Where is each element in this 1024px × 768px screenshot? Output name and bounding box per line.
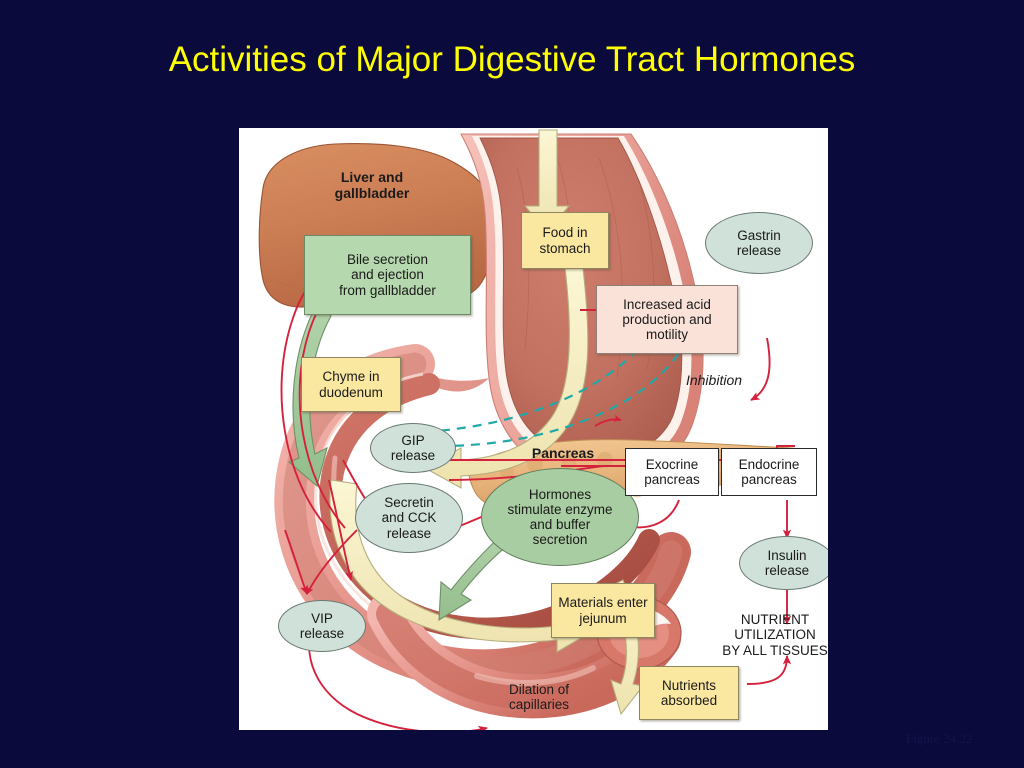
secretin-line2: and CCK (382, 510, 437, 525)
liver-label-line2: gallbladder (335, 185, 410, 201)
figure-panel: Liver and gallbladder Bile secretion and… (239, 128, 828, 730)
endocrine-line2: pancreas (741, 472, 797, 487)
process-box-chyme-in-duodenum[interactable]: Chyme in duodenum (301, 357, 401, 412)
exocrine-line2: pancreas (644, 472, 700, 487)
label-dilation-of-capillaries: Dilation of capillaries (487, 678, 591, 716)
vip-line1: VIP (311, 611, 333, 626)
hormone-insulin-release[interactable]: Insulin release (739, 536, 828, 590)
process-box-bile-secretion[interactable]: Bile secretion and ejection from gallbla… (304, 235, 471, 315)
endocrine-line1: Endocrine (739, 457, 800, 472)
nutrients-line1: Nutrients (662, 678, 716, 693)
process-box-nutrients-absorbed[interactable]: Nutrients absorbed (639, 666, 739, 720)
hormones-line4: secretion (533, 532, 588, 547)
chyme-line1: Chyme in (322, 369, 379, 384)
process-box-exocrine-pancreas[interactable]: Exocrine pancreas (625, 448, 719, 496)
figure-caption: Figure 24.22 (906, 731, 972, 747)
label-inhibition: Inhibition (671, 372, 757, 390)
process-hormones-stimulate-secretion[interactable]: Hormones stimulate enzyme and buffer sec… (481, 468, 639, 566)
secretin-line3: release (387, 526, 431, 541)
chyme-line2: duodenum (319, 385, 383, 400)
process-box-endocrine-pancreas[interactable]: Endocrine pancreas (721, 448, 817, 496)
hormone-secretin-cck-release[interactable]: Secretin and CCK release (355, 483, 463, 553)
acid-line2: production and (622, 312, 711, 327)
food-line2: stomach (539, 241, 590, 256)
hormones-line2: stimulate enzyme (507, 502, 612, 517)
nutrients-line2: absorbed (661, 693, 717, 708)
insulin-line2: release (765, 563, 809, 578)
gip-line2: release (391, 448, 435, 463)
secretin-line1: Secretin (384, 495, 434, 510)
materials-line2: jejunum (579, 611, 626, 626)
process-box-increased-acid[interactable]: Increased acid production and motility (596, 285, 738, 354)
organ-label-liver-gallbladder: Liver and gallbladder (307, 168, 437, 204)
exocrine-line1: Exocrine (646, 457, 699, 472)
nutrient-util-line3: BY ALL TISSUES (722, 643, 828, 658)
label-nutrient-utilization: NUTRIENT UTILIZATION BY ALL TISSUES (715, 606, 828, 664)
hormone-gip-release[interactable]: GIP release (370, 423, 456, 473)
process-box-food-in-stomach[interactable]: Food in stomach (521, 212, 609, 269)
hormones-line1: Hormones (529, 487, 591, 502)
nutrient-util-line1: NUTRIENT (741, 612, 809, 627)
materials-line1: Materials enter (558, 595, 647, 610)
dilation-line1: Dilation of (509, 682, 569, 697)
acid-line3: motility (646, 327, 688, 342)
gastrin-line2: release (737, 243, 781, 258)
bile-line2: and ejection (351, 267, 424, 282)
organ-label-pancreas: Pancreas (521, 445, 605, 463)
vip-line2: release (300, 626, 344, 641)
gastrin-line1: Gastrin (737, 228, 781, 243)
dilation-line2: capillaries (509, 697, 569, 712)
hormone-vip-release[interactable]: VIP release (278, 600, 366, 652)
nutrient-util-line2: UTILIZATION (734, 627, 816, 642)
hormones-line3: and buffer (530, 517, 591, 532)
hormone-gastrin-release[interactable]: Gastrin release (705, 212, 813, 274)
bile-line1: Bile secretion (347, 252, 428, 267)
insulin-line1: Insulin (767, 548, 806, 563)
liver-label-line1: Liver and (341, 169, 403, 185)
gip-line1: GIP (401, 433, 424, 448)
acid-line1: Increased acid (623, 297, 711, 312)
food-line1: Food in (542, 225, 587, 240)
bile-line3: from gallbladder (339, 283, 436, 298)
process-box-materials-enter-jejunum[interactable]: Materials enter jejunum (551, 583, 655, 638)
page-title: Activities of Major Digestive Tract Horm… (0, 40, 1024, 80)
